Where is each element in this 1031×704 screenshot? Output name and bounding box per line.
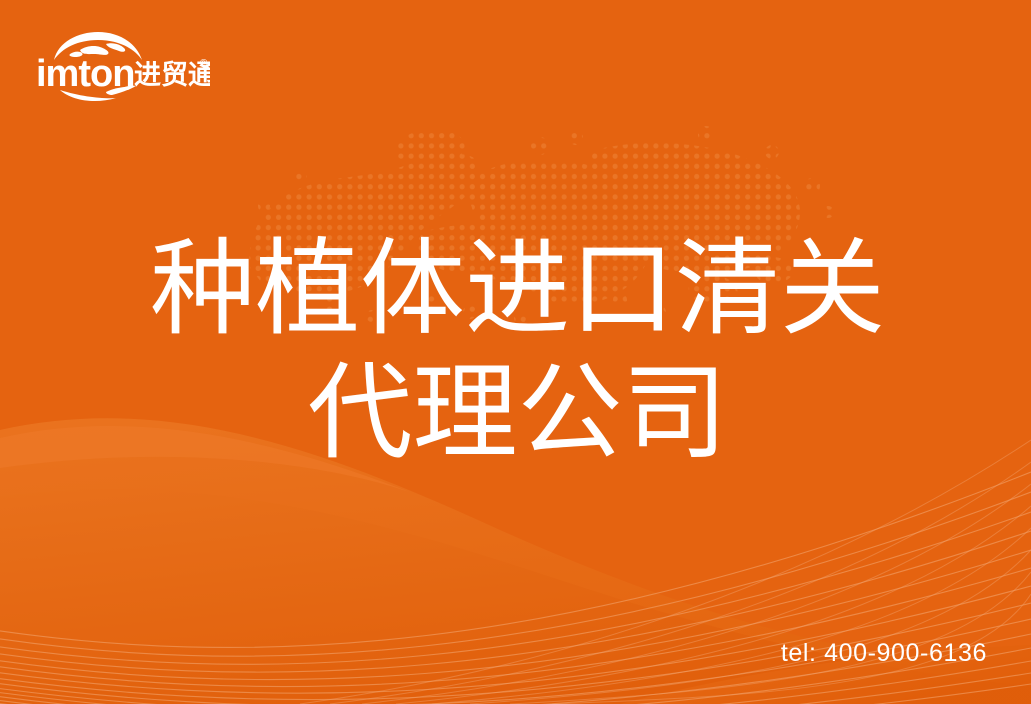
headline-line-2: 代理公司 — [4, 352, 1031, 476]
wave-shape-2 — [0, 489, 1031, 704]
headline: 种植体进口清关 代理公司 — [0, 228, 1031, 476]
registered-trademark-icon: ® — [200, 58, 208, 69]
telephone-text: tel: 400-900-6136 — [781, 638, 987, 668]
promo-banner: imton 进贸通 ® 种植体进口清关 代理公司 tel: 400-900-61… — [0, 0, 1031, 704]
imton-logo[interactable]: imton 进贸通 ® — [34, 28, 210, 102]
headline-line-1: 种植体进口清关 — [4, 228, 1031, 352]
logo-chinese-name: 进贸通 — [134, 60, 210, 90]
